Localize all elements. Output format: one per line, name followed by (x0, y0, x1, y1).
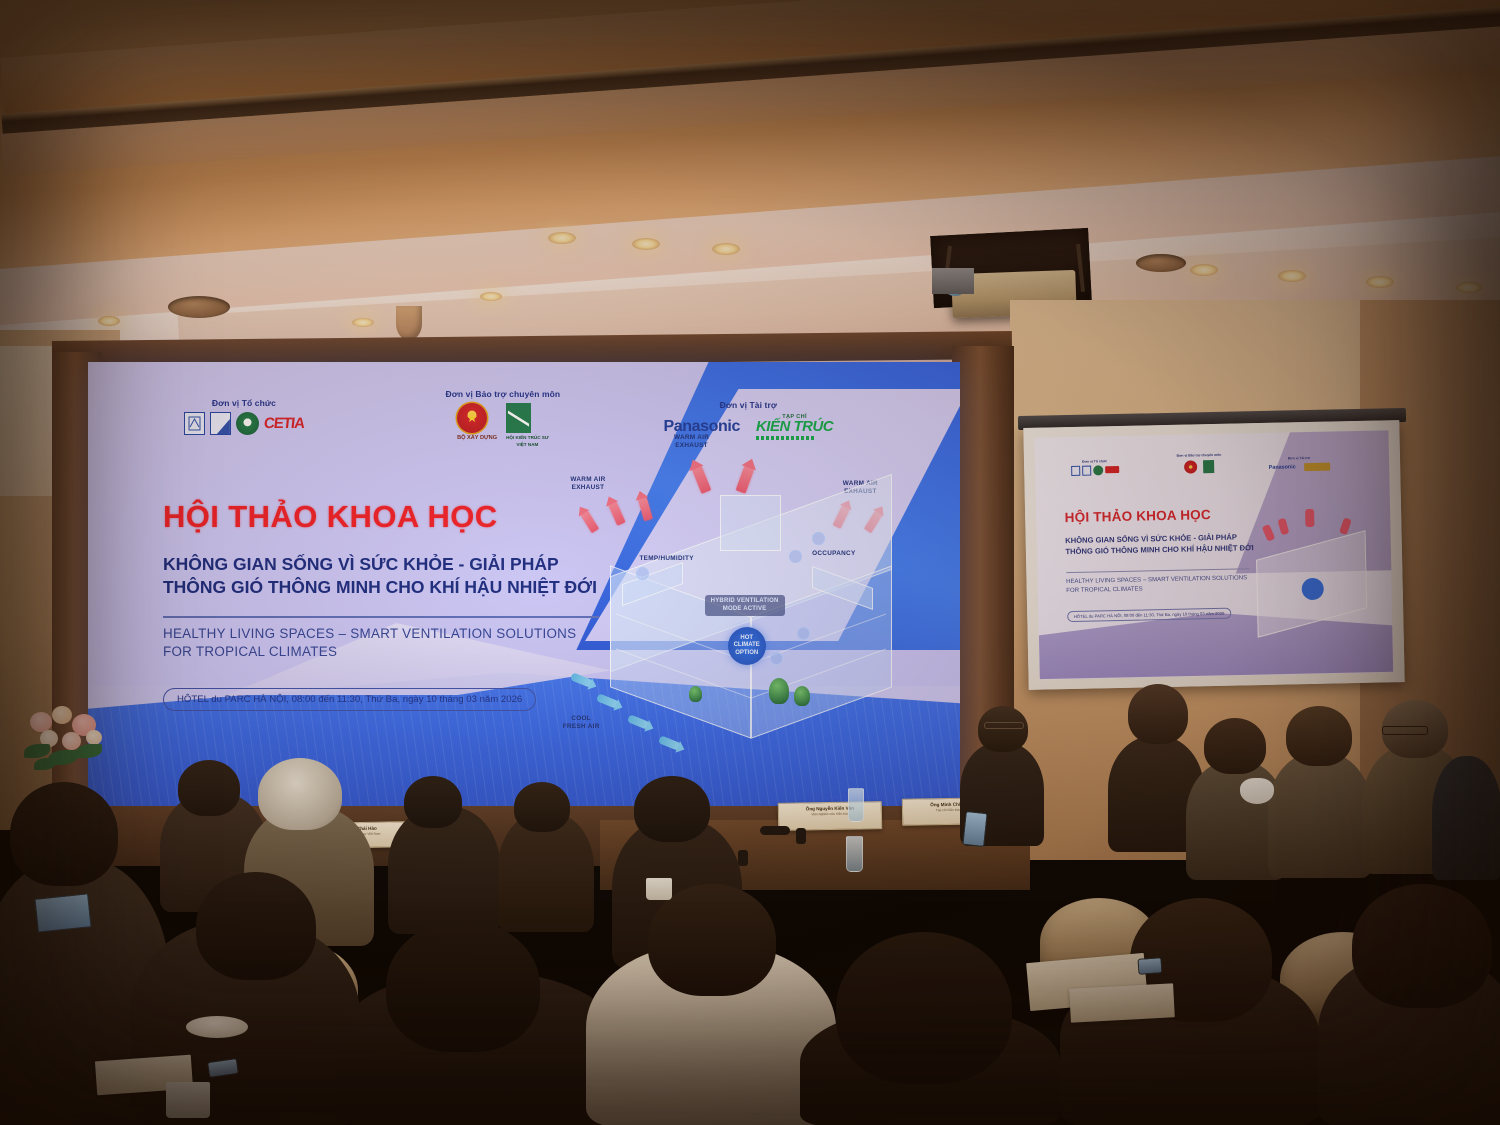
sensor-icon (770, 652, 783, 665)
exhaust-arrow (579, 509, 599, 533)
audience-head-foreground (386, 920, 540, 1052)
foliage (24, 744, 50, 758)
secondary-exhaust-arrow (1277, 518, 1289, 536)
secondary-architect-association-icon (1203, 460, 1214, 473)
slide-subtitle-line1: KHÔNG GIAN SỐNG VÌ SỨC KHỎE - GIẢI PHÁP (163, 553, 597, 576)
national-emblem-icon (457, 403, 487, 433)
secondary-organizer-mark-2-icon (1082, 465, 1091, 475)
slide-english-subtitle: HEALTHY LIVING SPACES – SMART VENTILATIO… (163, 625, 576, 661)
main-led-screen[interactable]: Đơn vị Tổ chức CETIA Đơn vị Bảo trợ chuy… (88, 362, 960, 812)
smartphone[interactable] (1137, 957, 1162, 975)
audience-head (1286, 706, 1352, 766)
bo-xay-dung-block: BỘ XÂY DỰNG (457, 403, 497, 441)
downlight (548, 232, 576, 244)
secondary-slide-english: HEALTHY LIVING SPACES – SMART VENTILATIO… (1066, 575, 1247, 595)
cetia-logo: CETIA (263, 416, 305, 431)
hoi-kien-truc-su-label-1: HỘI KIẾN TRÚC SƯ (506, 435, 549, 440)
label-occupancy: OCCUPANCY (812, 550, 855, 558)
secondary-green-circle-icon (1093, 465, 1103, 475)
downlight (98, 316, 120, 326)
laptop-screen[interactable] (34, 893, 91, 932)
logo-caption-professional: Đơn vị Bảo trợ chuyên môn (446, 389, 561, 399)
audience-head (178, 760, 240, 816)
kien-truc-logo: KIẾN TRÚC (756, 420, 833, 434)
flower-arrangement (18, 700, 126, 778)
label-temp-humidity: TEMP/HUMIDITY (639, 555, 693, 563)
audience-head-foreground (648, 884, 776, 996)
saucer (186, 1016, 248, 1038)
secondary-kien-truc-icon (1304, 462, 1330, 471)
foliage (76, 744, 102, 758)
secondary-logo-group-3: Đơn vị Tài trợ Panasonic (1268, 455, 1329, 471)
panasonic-logo: Panasonic (664, 418, 740, 436)
ventilation-diagram: WARM AIR EXHAUST WARM AIR EXHAUST WARM A… (559, 434, 943, 785)
ceiling-vent (1136, 254, 1186, 272)
microphone (760, 826, 790, 835)
audience-head-gray-hair (258, 758, 342, 830)
flower (52, 706, 72, 724)
audience-head-foreground (10, 782, 118, 886)
exhaust-arrow (736, 464, 756, 494)
hybrid-mode-chip: HYBRID VENTILATION MODE ACTIVE (705, 595, 785, 616)
slide-english-line2: FOR TROPICAL CLIMATES (163, 643, 576, 661)
sensor-icon (789, 550, 802, 563)
secondary-exhaust-arrow (1262, 524, 1276, 542)
flower (86, 730, 102, 745)
slide-subtitle: KHÔNG GIAN SỐNG VÌ SỨC KHỎE - GIẢI PHÁP … (163, 553, 597, 599)
audience-head-foreground (1352, 884, 1492, 1008)
label-warm-air-center: WARM AIR EXHAUST (674, 434, 709, 450)
ceiling-speaker (396, 306, 422, 340)
architect-association-icon (506, 403, 531, 433)
organizer-mark-1-icon (184, 412, 205, 435)
slide-venue-badge: HÔTEL du PARC HÀ NỘI, 08:00 đến 11:30, T… (163, 688, 536, 711)
audience-head-foreground (196, 872, 316, 980)
interior-plant (794, 686, 810, 706)
secondary-hot-climate-badge (1301, 577, 1323, 599)
hot-climate-option-badge: HOT CLIMATE OPTION (728, 627, 766, 665)
hoi-kien-truc-su-block: HỘI KIẾN TRÚC SƯ VIỆT NAM (506, 403, 549, 448)
intake-arrow (570, 672, 593, 688)
audience-head (404, 776, 462, 828)
presentation-slide: Đơn vị Tổ chức CETIA Đơn vị Bảo trợ chuy… (88, 362, 960, 812)
secondary-cetia-icon (1105, 466, 1119, 473)
eyeglasses-icon (1382, 726, 1428, 735)
downlight (1456, 282, 1482, 293)
slide-english-line1: HEALTHY LIVING SPACES – SMART VENTILATIO… (163, 625, 576, 643)
secondary-exhaust-arrow (1306, 509, 1315, 527)
slide-title: HỘI THẢO KHOA HỌC (163, 499, 498, 535)
secondary-diagram (1234, 498, 1386, 651)
exhaust-arrow (691, 464, 711, 494)
name-placard: Ông Nguyễn Kiến Văn Viện Nghiên cứu Kiến… (778, 801, 882, 831)
audience-member (1432, 756, 1500, 880)
microphone (796, 828, 806, 844)
slide-subtitle-line2: THÔNG GIÓ THÔNG MINH CHO KHÍ HẬU NHIỆT Đ… (163, 576, 597, 599)
water-glass (848, 788, 864, 822)
conference-room-scene: Đơn vị Tổ chức CETIA Đơn vị Bảo trợ chuy… (0, 0, 1500, 1125)
secondary-slide-subtitle: KHÔNG GIAN SỐNG VÌ SỨC KHỎE - GIẢI PHÁP … (1065, 532, 1254, 556)
secondary-logo-group-2: Đơn vị Bảo trợ chuyên môn (1177, 453, 1222, 474)
microphone (738, 850, 748, 866)
secondary-slide-title: HỘI THẢO KHOA HỌC (1065, 507, 1211, 525)
secondary-caption-2: Đơn vị Bảo trợ chuyên môn (1177, 453, 1222, 458)
coffee-cup (646, 878, 672, 900)
projector-vent-grille (932, 268, 974, 294)
downlight (1278, 270, 1306, 282)
document-page (1069, 983, 1175, 1022)
bo-xay-dung-label: BỘ XÂY DỰNG (457, 435, 497, 441)
secondary-projection-screen[interactable]: Đơn vị Tổ chức Đơn vị Bảo trợ chuyên môn (1023, 420, 1404, 690)
downlight (480, 292, 502, 301)
downlight (712, 243, 740, 255)
secondary-slide: Đơn vị Tổ chức Đơn vị Bảo trợ chuyên môn (1035, 431, 1393, 679)
secondary-national-emblem-icon (1184, 460, 1197, 473)
logo-group-organizer: Đơn vị Tổ chức CETIA (184, 398, 304, 435)
hoi-kien-truc-su-label-2: VIỆT NAM (506, 442, 549, 447)
water-glass (846, 836, 863, 872)
audience-head (978, 706, 1028, 752)
interior-plant (689, 686, 702, 702)
secondary-panasonic-logo: Panasonic (1269, 464, 1296, 471)
exhaust-arrow (608, 499, 626, 525)
secondary-caption-1: Đơn vị Tổ chức (1071, 459, 1119, 464)
slide-divider (163, 616, 599, 617)
label-cool-fresh-air: COOL FRESH AIR (563, 715, 600, 731)
sensor-icon (797, 627, 810, 640)
secondary-exhaust-arrow (1339, 518, 1352, 536)
face-mask (1240, 778, 1274, 804)
green-circle-mark-icon (236, 412, 259, 435)
logo-group-sponsor-professional: Đơn vị Bảo trợ chuyên môn BỘ XÂY DỰNG HỘ… (446, 389, 561, 448)
secondary-organizer-mark-1-icon (1071, 466, 1080, 476)
secondary-caption-3: Đơn vị Tài trợ (1268, 455, 1329, 460)
ceiling-vent (168, 296, 230, 318)
flower (30, 712, 52, 732)
smartphone[interactable] (962, 811, 987, 847)
downlight (352, 318, 374, 327)
audience-head (1128, 684, 1188, 744)
organizer-mark-2-icon (210, 412, 231, 435)
secondary-logo-group-1: Đơn vị Tổ chức (1071, 459, 1119, 476)
rooftop-stack (720, 495, 781, 552)
logo-caption-organizer: Đơn vị Tổ chức (184, 398, 304, 408)
secondary-slide-divider (1066, 569, 1250, 574)
downlight (1366, 276, 1394, 288)
label-warm-air-left: WARM AIR EXHAUST (570, 476, 605, 492)
audience-head (634, 776, 710, 842)
exhaust-arrow (638, 495, 653, 521)
logo-caption-funder: Đơn vị Tài trợ (664, 400, 834, 410)
audience-head (514, 782, 570, 832)
downlight (632, 238, 660, 250)
eyeglasses-icon (984, 722, 1024, 729)
audience-head-foreground (836, 932, 1012, 1084)
foliage (34, 758, 56, 770)
audience-member (1268, 752, 1372, 878)
audience-head (1204, 718, 1266, 774)
interior-plant (769, 678, 789, 704)
coffee-cup (166, 1082, 210, 1118)
placard-org: Viện Nghiên cứu Kiến trúc (779, 811, 881, 817)
downlight (1190, 264, 1218, 276)
sensor-icon (636, 567, 649, 580)
